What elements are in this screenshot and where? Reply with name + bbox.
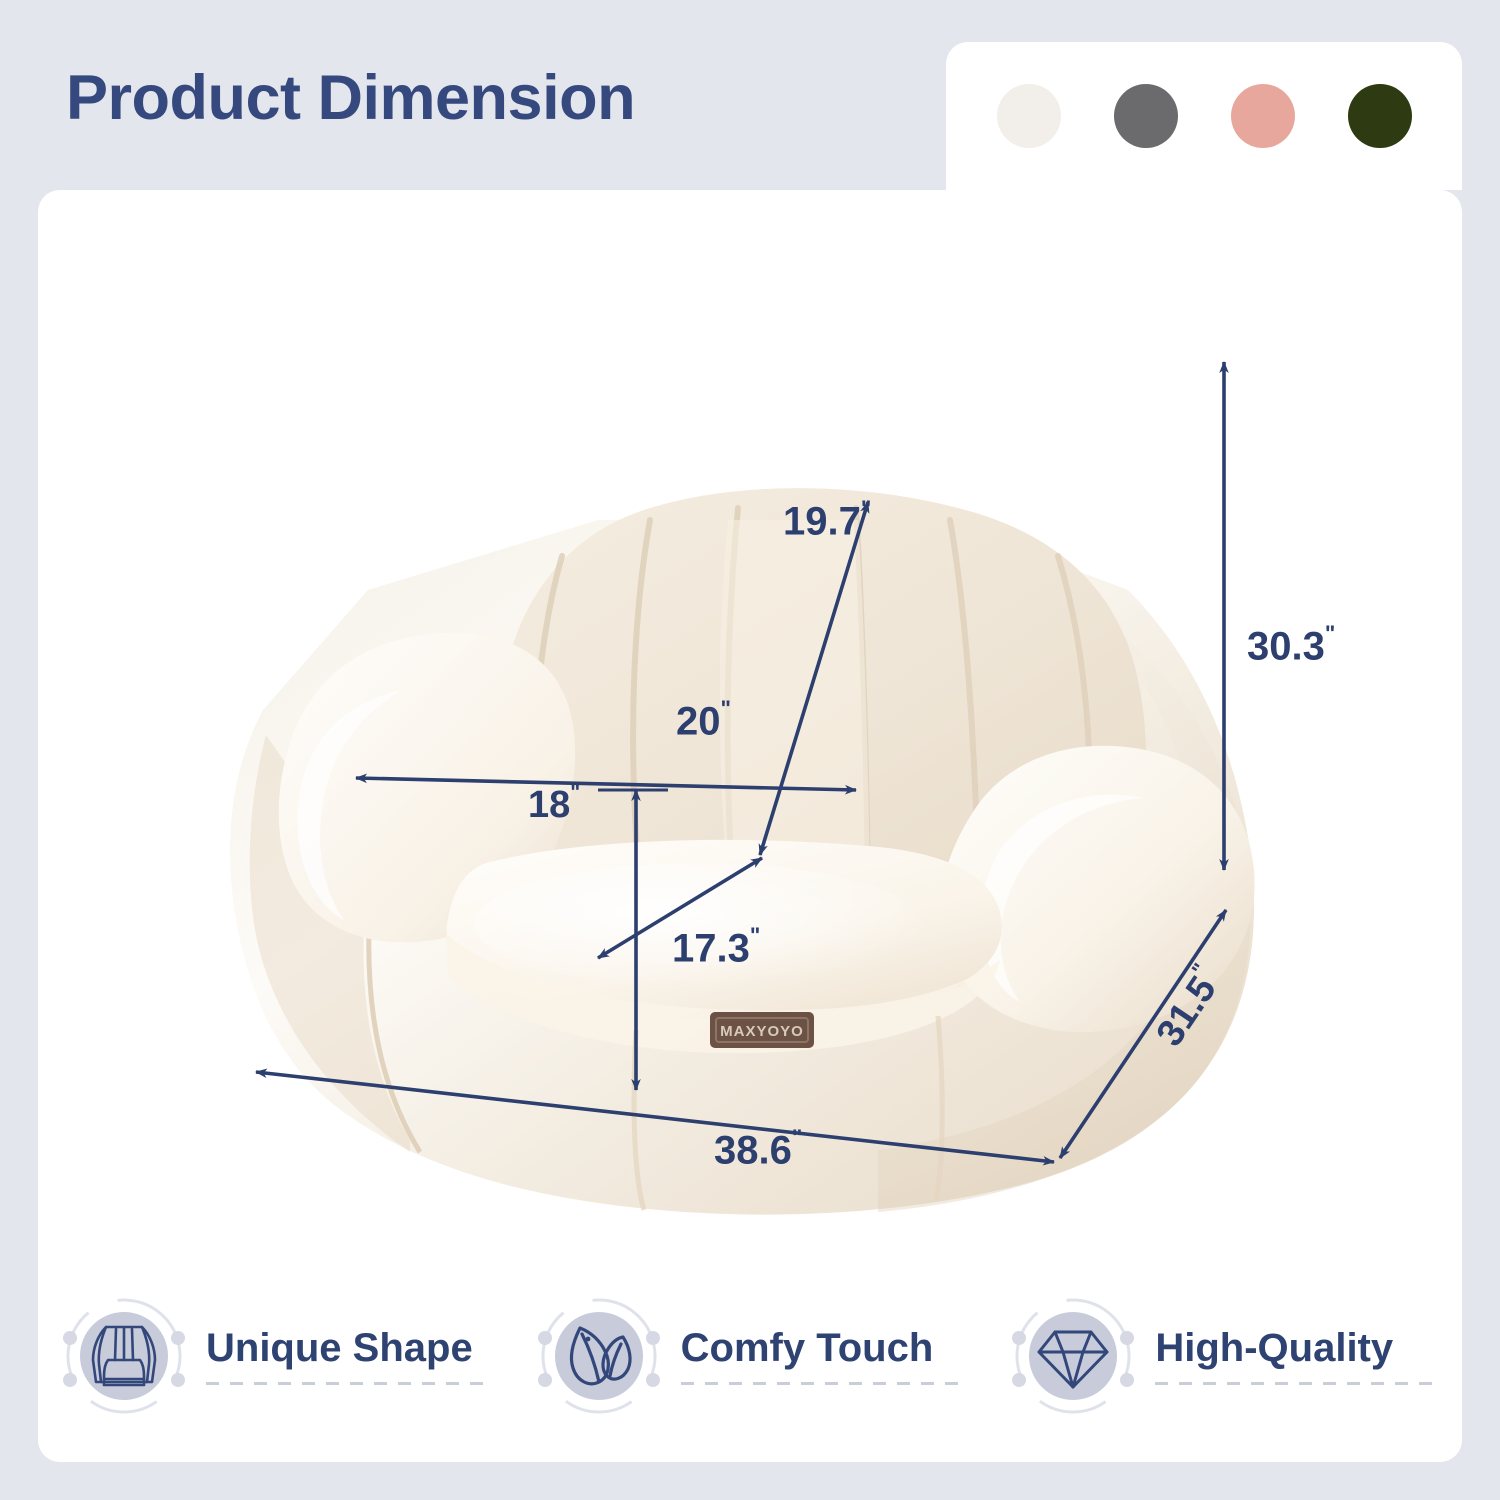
brand-tag: MAXYOYO xyxy=(710,1012,814,1048)
feature-unique-shape: Unique Shape xyxy=(38,1294,513,1418)
color-swatch-card xyxy=(946,42,1462,190)
dimension-label-17-3: 17.3" xyxy=(672,925,759,969)
color-swatch-pink[interactable] xyxy=(1231,84,1295,148)
svg-text:MAXYOYO: MAXYOYO xyxy=(720,1023,804,1040)
feature-divider xyxy=(1155,1382,1440,1385)
page-title: Product Dimension xyxy=(66,62,635,134)
feature-divider xyxy=(681,1382,966,1385)
dimension-label-18: 18" xyxy=(528,783,579,824)
product-illustration: MAXYOYO xyxy=(38,190,1462,1250)
dimension-label-19-7: 19.7" xyxy=(783,498,870,542)
dimension-label-38-6: 38.6" xyxy=(714,1127,801,1171)
armchair-icon xyxy=(62,1294,186,1418)
color-swatch-cream[interactable] xyxy=(997,84,1061,148)
feature-divider xyxy=(206,1382,491,1385)
color-swatch-gray[interactable] xyxy=(1114,84,1178,148)
feature-label-unique-shape: Unique Shape xyxy=(206,1328,491,1368)
feature-strip: Unique Shape Comfy xyxy=(38,1250,1462,1462)
dimension-label-20: 20" xyxy=(676,698,730,742)
feature-high-quality: High-Quality xyxy=(987,1294,1462,1418)
diamond-icon xyxy=(1011,1294,1135,1418)
feature-comfy-touch: Comfy Touch xyxy=(513,1294,988,1418)
leaves-icon xyxy=(537,1294,661,1418)
feature-label-high-quality: High-Quality xyxy=(1155,1328,1440,1368)
dimension-label-30-3: 30.3" xyxy=(1247,623,1334,667)
color-swatch-olive[interactable] xyxy=(1348,84,1412,148)
feature-label-comfy-touch: Comfy Touch xyxy=(681,1328,966,1368)
